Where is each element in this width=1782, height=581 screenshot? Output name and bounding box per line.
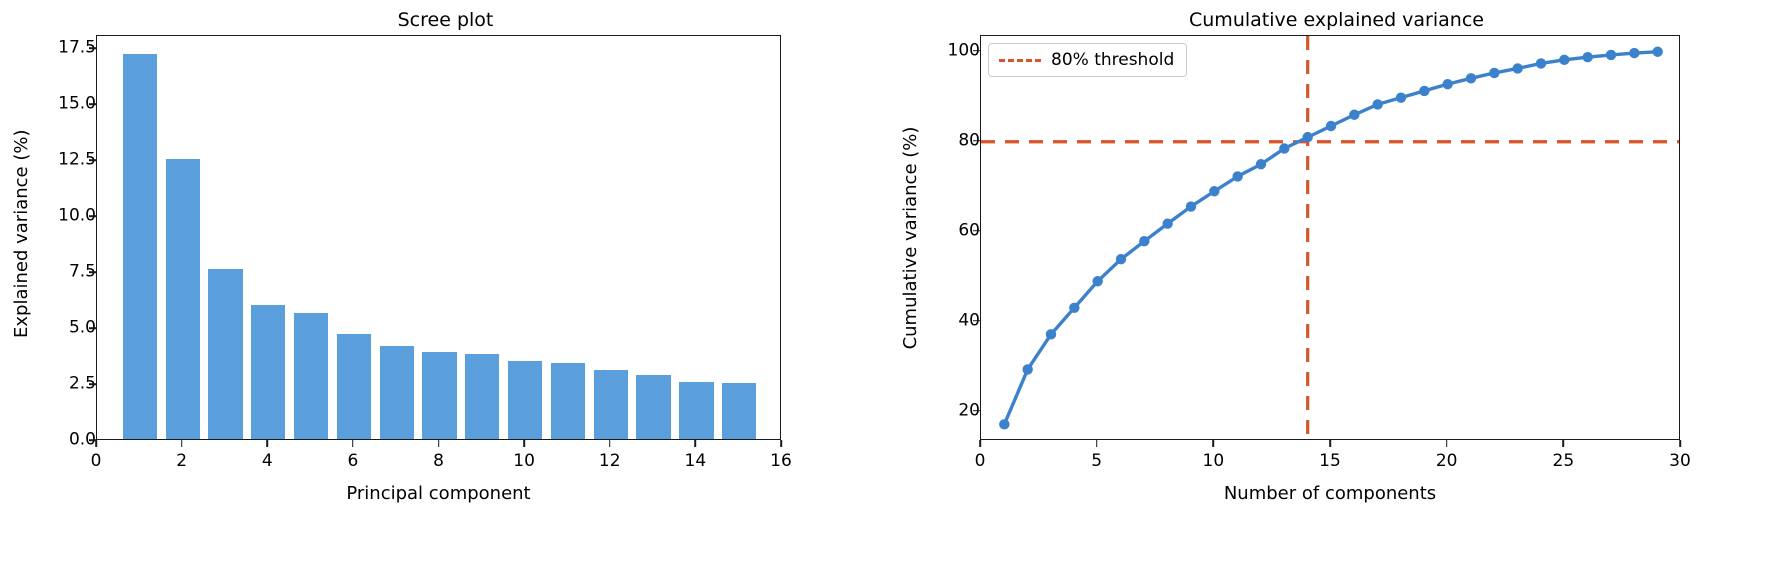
data-point-24 [1536,58,1546,68]
scree-x-tick-10: 10 [513,453,535,470]
cumvar-y-tick-mark [973,140,980,142]
cumvar-x-tick-mark [1446,440,1448,447]
scree-plot-y-axis-label: Explained variance (%) [13,138,31,338]
bar-pc-14 [679,382,713,439]
figure-canvas: Scree plot 0.02.55.07.510.012.515.017.5 … [0,0,1782,581]
scree-x-tick-16: 16 [770,453,792,470]
cumvar-x-tick-10: 10 [1203,453,1225,470]
cumulative-variance-plot-area [981,36,1680,440]
cumvar-x-tick-0: 0 [975,453,986,470]
bar-pc-8 [422,352,456,439]
cumvar-x-tick-mark [1329,440,1331,447]
scree-x-tick-8: 8 [433,453,444,470]
cumulative-variance-panel: Cumulative explained variance 2040608010… [891,0,1782,581]
cumulative-variance-axes [980,35,1680,440]
scree-plot-x-axis-label: Principal component [96,485,781,503]
cumvar-x-tick-5: 5 [1091,453,1102,470]
bar-pc-11 [551,363,585,439]
scree-plot-panel: Scree plot 0.02.55.07.510.012.515.017.5 … [0,0,891,581]
bar-pc-2 [166,159,200,439]
cumvar-x-tick-15: 15 [1319,453,1341,470]
scree-x-tick-2: 2 [176,453,187,470]
scree-x-tick-mark [181,440,183,447]
cumvar-x-tick-mark [1563,440,1565,447]
scree-x-tick-mark [780,440,782,447]
bar-pc-10 [508,361,542,439]
data-point-5 [1092,276,1102,286]
cumvar-y-tick-mark [973,230,980,232]
bar-pc-5 [294,313,328,439]
cumvar-x-tick-25: 25 [1553,453,1575,470]
cumvar-x-tick-mark [1679,440,1681,447]
cumulative-variance-x-axis-label: Number of components [980,485,1680,503]
bar-pc-4 [251,305,285,439]
scree-x-tick-mark [266,440,268,447]
legend-label-threshold: 80% threshold [1051,50,1174,70]
data-point-21 [1466,73,1476,83]
data-point-26 [1582,52,1592,62]
scree-x-tick-mark [695,440,697,447]
data-point-9 [1186,201,1196,211]
data-point-29 [1652,47,1662,57]
cumvar-x-tick-20: 20 [1436,453,1458,470]
scree-y-tick-mark [89,383,96,385]
data-point-27 [1606,50,1616,60]
scree-x-tick-12: 12 [599,453,621,470]
bar-pc-12 [594,370,628,439]
cumvar-x-tick-mark [979,440,981,447]
cumulative-variance-line [1004,52,1657,425]
scree-x-tick-mark [438,440,440,447]
data-point-10 [1209,186,1219,196]
bar-pc-7 [380,346,414,439]
cumvar-x-tick-30: 30 [1669,453,1691,470]
data-point-20 [1442,79,1452,89]
data-point-22 [1489,68,1499,78]
data-point-16 [1349,110,1359,120]
scree-x-tick-mark [523,440,525,447]
data-point-6 [1116,254,1126,264]
dashed-line-icon [999,59,1041,62]
scree-y-tick-mark [89,271,96,273]
data-point-23 [1512,63,1522,73]
data-point-13 [1279,143,1289,153]
bar-pc-6 [337,334,371,439]
scree-y-tick-mark [89,215,96,217]
bar-pc-9 [465,354,499,439]
scree-y-tick-mark [89,327,96,329]
cumvar-y-tick-mark [973,320,980,322]
scree-x-tick-6: 6 [347,453,358,470]
cumvar-y-tick-mark [973,410,980,412]
scree-x-tick-mark [95,440,97,447]
scree-plot-axes [96,35,781,440]
data-point-3 [1046,329,1056,339]
data-point-7 [1139,236,1149,246]
cumulative-variance-y-axis-label: Cumulative variance (%) [902,118,920,358]
bar-pc-3 [208,269,242,439]
scree-y-tick-mark [89,48,96,50]
cumulative-variance-title: Cumulative explained variance [891,8,1782,32]
bar-pc-15 [722,383,756,439]
data-point-12 [1256,159,1266,169]
scree-x-tick-mark [609,440,611,447]
scree-y-tick-mark [89,160,96,162]
data-point-8 [1162,218,1172,228]
data-point-14 [1302,132,1312,142]
cumvar-x-tick-mark [1096,440,1098,447]
scree-y-tick-mark [89,104,96,106]
threshold-legend: 80% threshold [988,43,1187,77]
scree-x-tick-14: 14 [685,453,707,470]
scree-x-tick-0: 0 [91,453,102,470]
data-point-25 [1559,55,1569,65]
data-point-4 [1069,303,1079,313]
scree-x-tick-4: 4 [262,453,273,470]
data-point-28 [1629,48,1639,58]
data-point-2 [1022,364,1032,374]
scree-x-tick-mark [352,440,354,447]
data-point-17 [1372,99,1382,109]
cumvar-x-tick-mark [1213,440,1215,447]
data-point-11 [1232,171,1242,181]
scree-plot-title: Scree plot [0,8,891,32]
cumvar-y-tick-mark [973,50,980,52]
data-point-18 [1396,92,1406,102]
data-point-15 [1326,121,1336,131]
bar-pc-1 [123,54,157,439]
bar-pc-13 [636,375,670,439]
data-point-19 [1419,86,1429,96]
data-point-1 [999,419,1009,429]
